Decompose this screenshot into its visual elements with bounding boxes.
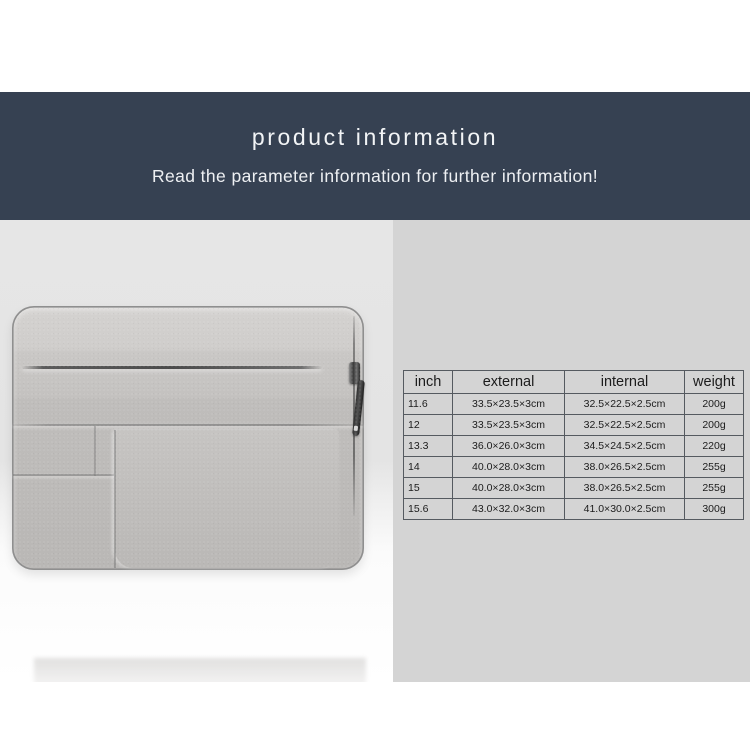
- cell-weight: 300g: [685, 499, 744, 520]
- column-header-internal: internal: [565, 371, 685, 394]
- cell-inch: 14: [404, 457, 453, 478]
- cell-inch: 12: [404, 415, 453, 436]
- cell-internal: 32.5×22.5×2.5cm: [565, 394, 685, 415]
- cell-inch: 15: [404, 478, 453, 499]
- laptop-sleeve-illustration: [12, 306, 364, 570]
- spec-table-panel: inch external internal weight 11.6 33.5×…: [393, 220, 750, 682]
- cell-internal: 38.0×26.5×2.5cm: [565, 457, 685, 478]
- product-photo: [0, 220, 393, 682]
- sleeve-body: [12, 306, 364, 570]
- sleeve-top-seam: [22, 366, 322, 369]
- page-banner: product information Read the parameter i…: [0, 92, 750, 220]
- cell-external: 33.5×23.5×3cm: [453, 415, 565, 436]
- specification-table: inch external internal weight 11.6 33.5×…: [403, 370, 744, 520]
- table-row: 13.3 36.0×26.0×3cm 34.5×24.5×2.5cm 220g: [404, 436, 744, 457]
- cell-inch: 13.3: [404, 436, 453, 457]
- table-row: 15.6 43.0×32.0×3cm 41.0×30.0×2.5cm 300g: [404, 499, 744, 520]
- sleeve-reflection: [34, 658, 366, 682]
- table-row: 11.6 33.5×23.5×3cm 32.5×22.5×2.5cm 200g: [404, 394, 744, 415]
- cell-weight: 255g: [685, 478, 744, 499]
- product-image-panel: [0, 220, 393, 682]
- product-information-page: product information Read the parameter i…: [0, 0, 750, 750]
- cell-external: 40.0×28.0×3cm: [453, 478, 565, 499]
- column-header-external: external: [453, 371, 565, 394]
- cell-weight: 220g: [685, 436, 744, 457]
- sleeve-front-pocket: [114, 430, 339, 568]
- sleeve-slot-pocket: [13, 474, 117, 476]
- table-row: 15 40.0×28.0×3cm 38.0×26.5×2.5cm 255g: [404, 478, 744, 499]
- spec-table-wrapper: inch external internal weight 11.6 33.5×…: [403, 370, 743, 520]
- column-header-weight: weight: [685, 371, 744, 394]
- content-area: inch external internal weight 11.6 33.5×…: [0, 220, 750, 682]
- cell-external: 33.5×23.5×3cm: [453, 394, 565, 415]
- cell-inch: 11.6: [404, 394, 453, 415]
- cell-external: 36.0×26.0×3cm: [453, 436, 565, 457]
- column-header-inch: inch: [404, 371, 453, 394]
- sleeve-mid-seam: [13, 424, 363, 426]
- cell-internal: 38.0×26.5×2.5cm: [565, 478, 685, 499]
- table-row: 12 33.5×23.5×3cm 32.5×22.5×2.5cm 200g: [404, 415, 744, 436]
- cell-external: 43.0×32.0×3cm: [453, 499, 565, 520]
- cell-weight: 200g: [685, 415, 744, 436]
- cell-inch: 15.6: [404, 499, 453, 520]
- page-subtitle: Read the parameter information for furth…: [152, 168, 598, 186]
- cell-internal: 34.5×24.5×2.5cm: [565, 436, 685, 457]
- table-row: 14 40.0×28.0×3cm 38.0×26.5×2.5cm 255g: [404, 457, 744, 478]
- cell-weight: 200g: [685, 394, 744, 415]
- cell-external: 40.0×28.0×3cm: [453, 457, 565, 478]
- sleeve-slot-divider: [94, 426, 96, 476]
- page-title: product information: [252, 126, 498, 149]
- cell-internal: 41.0×30.0×2.5cm: [565, 499, 685, 520]
- cell-internal: 32.5×22.5×2.5cm: [565, 415, 685, 436]
- cell-weight: 255g: [685, 457, 744, 478]
- table-header-row: inch external internal weight: [404, 371, 744, 394]
